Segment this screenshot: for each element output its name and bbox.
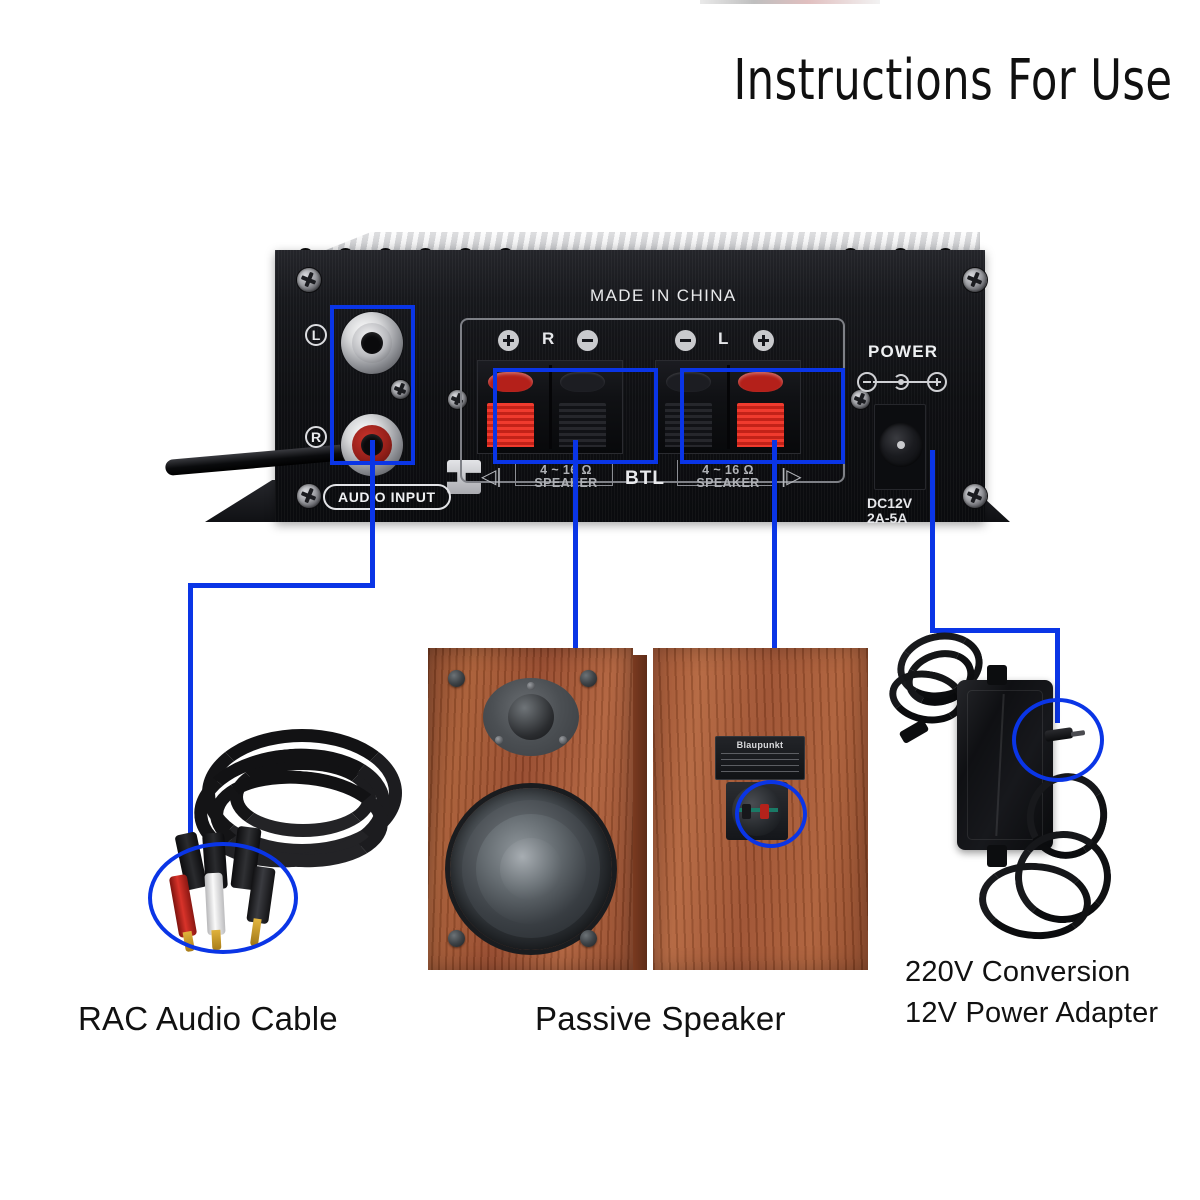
speaker-cabinet-side — [633, 655, 647, 970]
caption-power-adapter: 220V Conversion 12V Power Adapter — [905, 952, 1158, 1034]
woofer-driver — [450, 788, 612, 950]
driver-screw — [527, 682, 535, 690]
callout-circle-speaker-terminal — [735, 780, 807, 848]
plus-icon-right — [498, 330, 519, 351]
minus-icon-right — [577, 330, 598, 351]
tweeter-dome — [508, 694, 554, 740]
impedance-label-right: 4 ~ 16 Ω SPEAKER — [525, 464, 607, 490]
caption-rca-cable: RAC Audio Cable — [78, 1000, 338, 1038]
spec-line — [721, 771, 799, 772]
page-title: Instructions For Use — [733, 48, 1172, 113]
callout-circle-dc-plug — [1012, 698, 1104, 782]
woofer-dustcap — [500, 838, 562, 900]
speaker-icon-left: ◁| — [481, 464, 502, 489]
rca-left-label: L — [305, 324, 327, 346]
polarity-diagram — [855, 372, 951, 392]
panel-screw — [297, 268, 321, 292]
spec-line — [721, 765, 799, 766]
leader-line-dc-vertical — [930, 450, 935, 632]
panel-screw — [963, 484, 987, 508]
callout-circle-rca-plugs — [148, 842, 298, 954]
cabinet-screw — [580, 670, 597, 687]
top-cutoff-strip — [700, 0, 880, 4]
made-in-china-label: MADE IN CHINA — [590, 286, 737, 306]
channel-r-label: R — [542, 329, 554, 349]
leader-line-rca-vertical — [370, 440, 375, 585]
leader-line-rca-horizontal — [188, 583, 375, 588]
passive-speaker-front — [428, 648, 633, 970]
panel-screw — [963, 268, 987, 292]
callout-box-terminal-left — [680, 368, 845, 464]
minus-icon-left — [675, 330, 696, 351]
driver-screw — [559, 736, 567, 744]
audio-input-label: AUDIO INPUT — [323, 484, 451, 510]
dc-power-jack[interactable] — [879, 423, 923, 467]
speaker-icon-right: |▷ — [781, 464, 802, 489]
caption-passive-speaker: Passive Speaker — [535, 1000, 786, 1038]
instruction-diagram: Instructions For Use MADE IN CHINA L R — [0, 0, 1200, 1200]
ac-plug — [899, 719, 930, 744]
adapter-strain-relief-top — [987, 665, 1007, 685]
adapter-strain-relief-bottom — [987, 845, 1007, 867]
power-adapter — [895, 625, 1110, 945]
rca-right-label: R — [305, 426, 327, 448]
cabinet-screw — [448, 670, 465, 687]
plus-icon-power — [927, 372, 947, 392]
impedance-label-left: 4 ~ 16 Ω SPEAKER — [687, 464, 769, 490]
cabinet-screw — [580, 930, 597, 947]
driver-screw — [495, 736, 503, 744]
cabinet-screw — [448, 930, 465, 947]
leader-line-spk-right — [573, 440, 578, 655]
dc-jack-plate — [874, 404, 926, 490]
plus-icon-left — [753, 330, 774, 351]
panel-screw — [297, 484, 321, 508]
spec-line — [721, 759, 799, 760]
dc-rating-label: DC12V 2A-5A — [867, 496, 912, 526]
power-label: POWER — [868, 342, 938, 362]
adapter-seam — [995, 694, 1004, 836]
btl-label: BTL — [625, 468, 665, 490]
panel-screw — [851, 390, 870, 409]
speaker-spec-plate: Blaupunkt — [715, 736, 805, 780]
channel-l-label: L — [718, 329, 728, 349]
spec-line — [721, 753, 799, 754]
speaker-brand-label: Blaupunkt — [737, 740, 784, 750]
tweeter-driver — [483, 678, 579, 756]
center-pin-icon — [893, 374, 909, 390]
minus-icon-power — [857, 372, 877, 392]
